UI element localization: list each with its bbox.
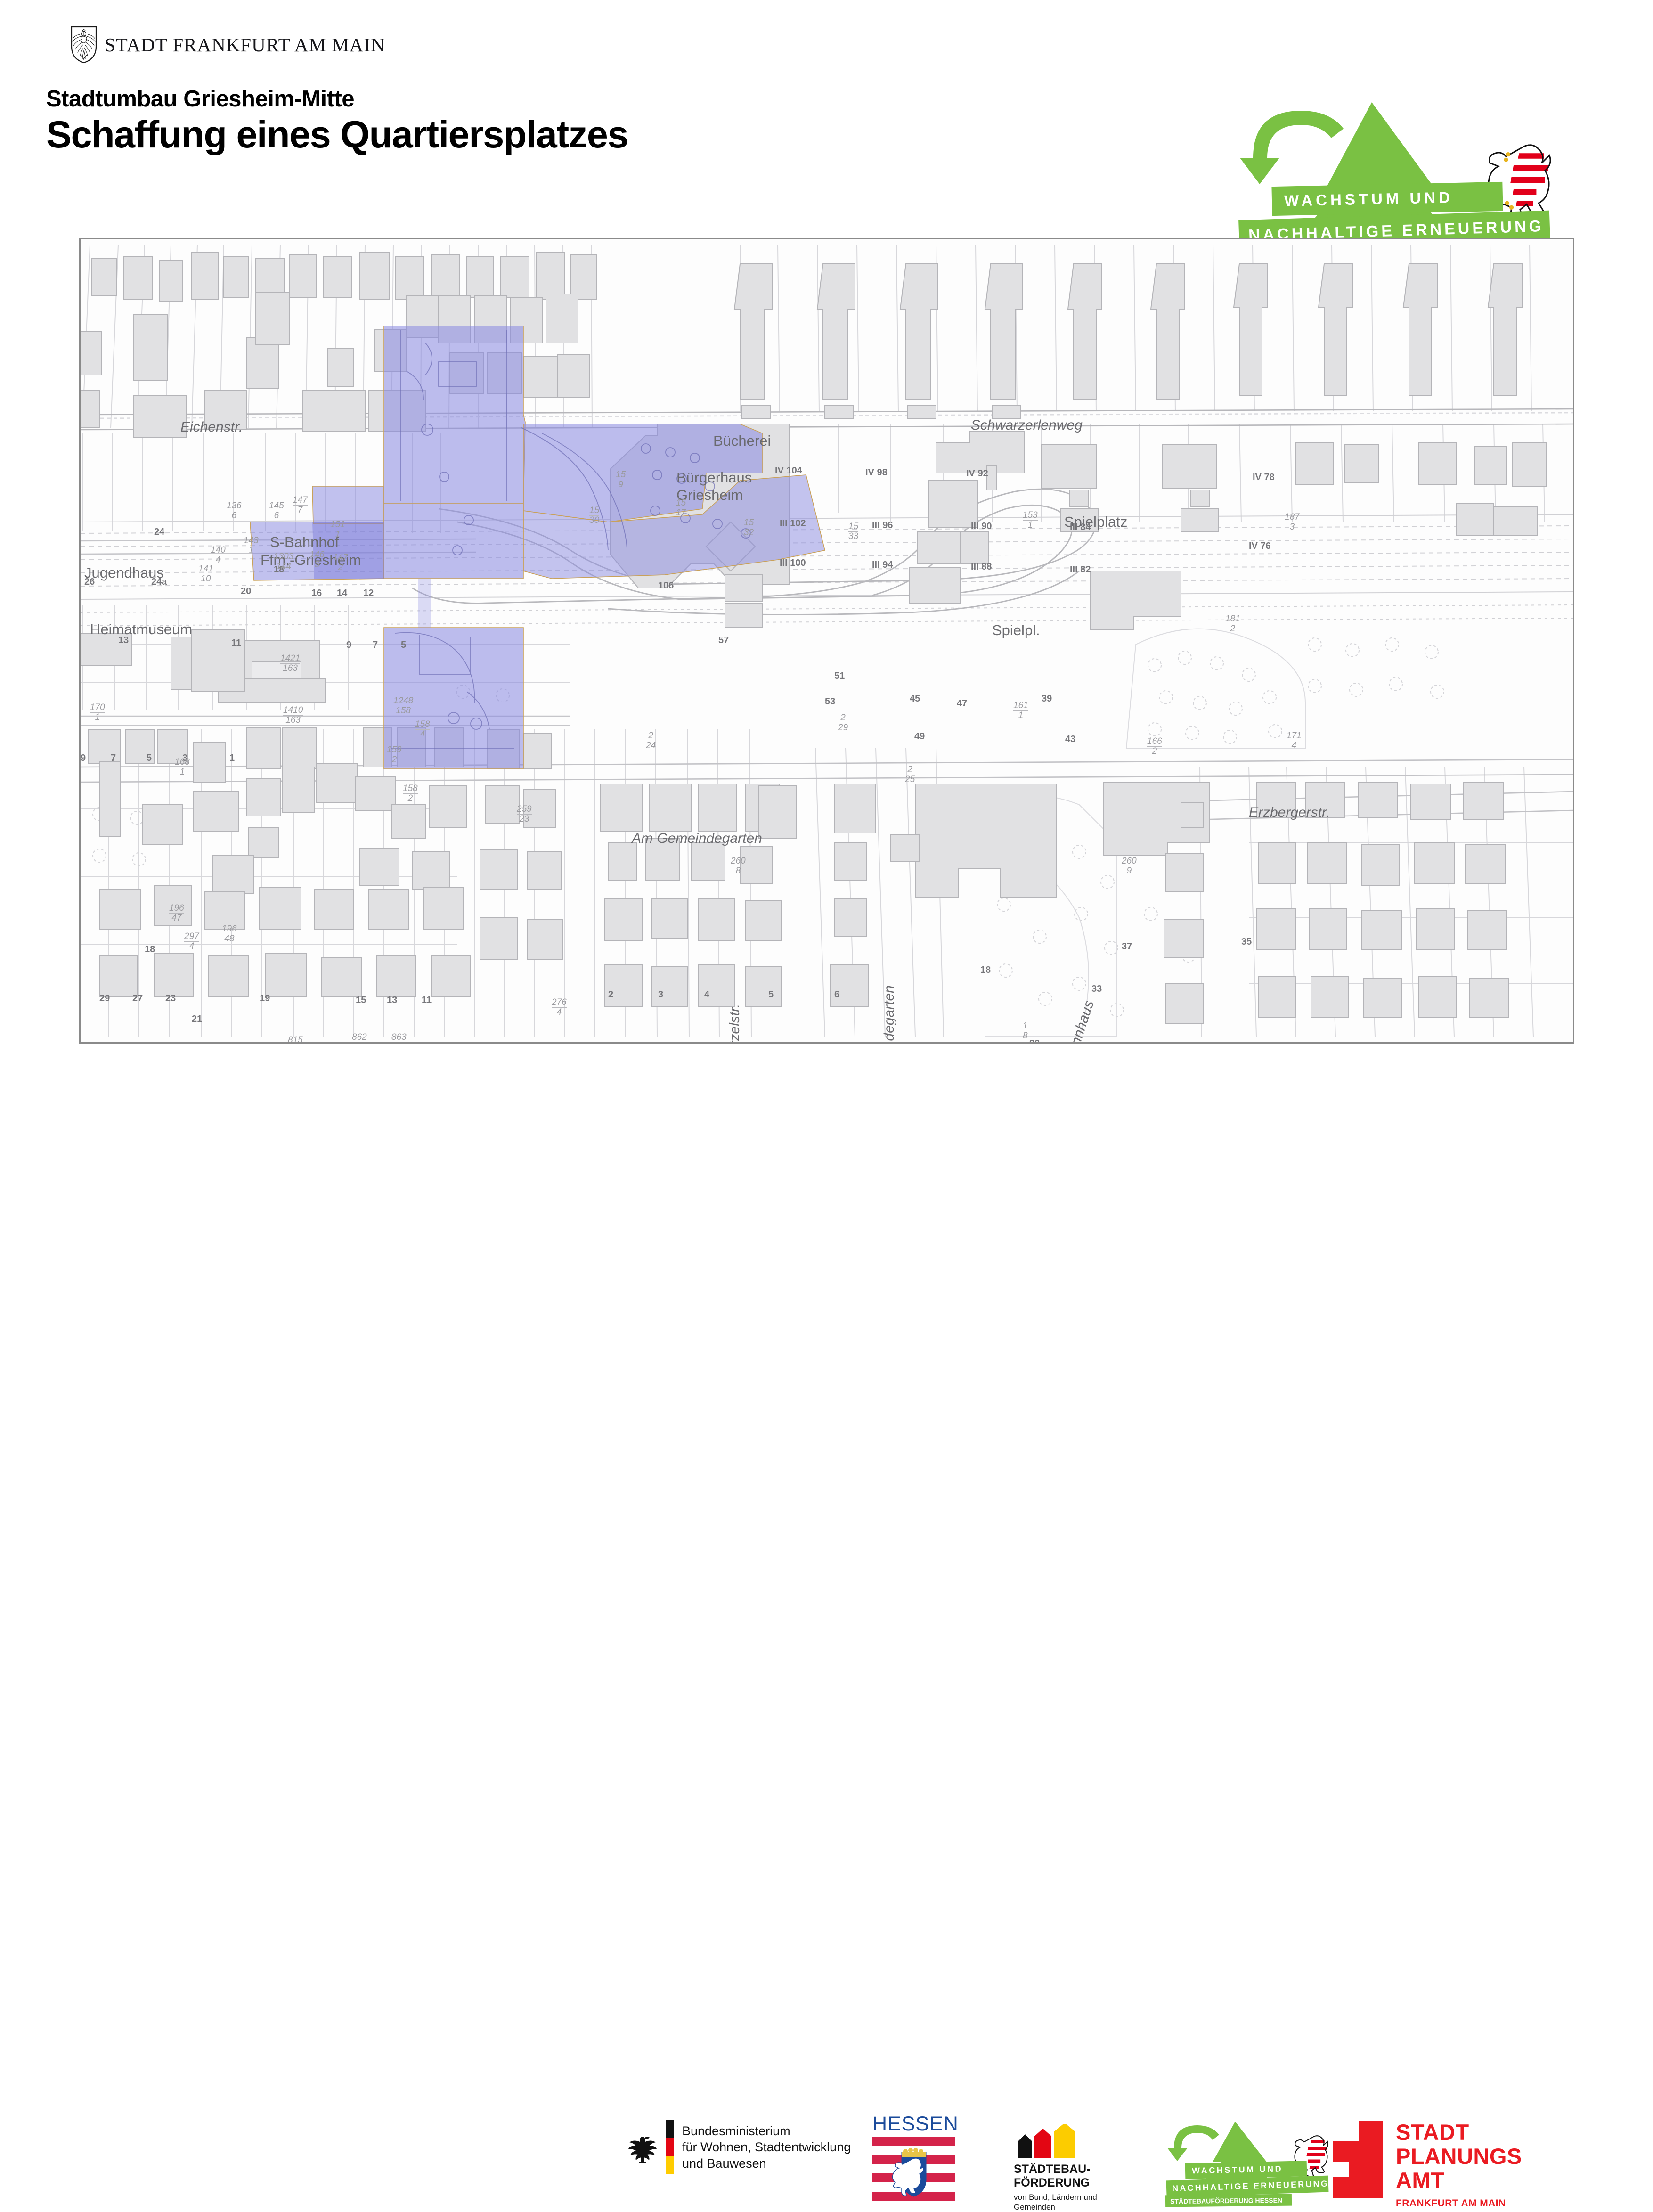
spa-red-mark-icon (1333, 2121, 1383, 2198)
hessen-flag-crest-icon (872, 2137, 955, 2201)
three-houses-icon (1014, 2124, 1122, 2158)
program-logo-footer: WACHSTUM UND NACHHALTIGE ERNEUERUNG STÄD… (1163, 2117, 1356, 2204)
germany-flag-bar (666, 2120, 674, 2174)
bmwsb-line-1: Bundesministerium (682, 2123, 851, 2139)
title-block: Stadtumbau Griesheim-Mitte Schaffung ein… (46, 87, 628, 156)
city-logo-text: STADT FRANKFURT AM MAIN (105, 33, 385, 56)
page-footer: Bundesministerium für Wohnen, Stadtentwi… (0, 1048, 1653, 1168)
cadastral-map[interactable]: Eichenstr. Schwarzerlenweg Am Gemeindega… (79, 238, 1574, 1044)
hessen-logo: HESSEN (872, 2114, 955, 2203)
spa-line-3: AMT (1396, 2169, 1522, 2193)
staedtebau-line-2: FÖRDERUNG (1014, 2176, 1122, 2190)
page-kicker: Stadtumbau Griesheim-Mitte (46, 87, 628, 111)
map-graphics (81, 239, 1573, 1042)
staedtebau-sub-1: von Bund, Ländern und (1014, 2193, 1122, 2203)
hessen-word: HESSEN (872, 2114, 955, 2134)
staedtebau-sub-2: Gemeinden (1014, 2203, 1122, 2212)
program-logo-line1: WACHSTUM UND (1271, 182, 1503, 216)
bmwsb-logo: Bundesministerium für Wohnen, Stadtentwi… (628, 2120, 851, 2174)
city-logo: STADT FRANKFURT AM MAIN (70, 26, 385, 64)
bmwsb-line-2: für Wohnen, Stadtentwicklung (682, 2139, 851, 2155)
bmwsb-text: Bundesministerium für Wohnen, Stadtentwi… (682, 2123, 851, 2172)
page-title: Schaffung eines Quartiersplatzes (46, 114, 628, 156)
program-logo-footer-line1: WACHSTUM UND (1185, 2161, 1307, 2179)
staedtebau-line-1: STÄDTEBAU- (1014, 2163, 1122, 2176)
spa-line-1: STADT (1396, 2121, 1522, 2145)
bmwsb-line-3: und Bauwesen (682, 2155, 851, 2172)
page-header: STADT FRANKFURT AM MAIN Stadtumbau Gries… (0, 0, 1653, 236)
frankfurt-eagle-crest-icon (70, 26, 98, 64)
staedtebaufoerderung-logo: STÄDTEBAU- FÖRDERUNG von Bund, Ländern u… (1014, 2124, 1122, 2212)
spa-subtitle: FRANKFURT AM MAIN (1396, 2198, 1522, 2209)
spa-line-2: PLANUNGS (1396, 2145, 1522, 2169)
stadtplanungsamt-logo: STADT PLANUNGS AMT FRANKFURT AM MAIN (1333, 2121, 1522, 2209)
program-logo-footer-line3: STÄDTEBAUFÖRDERUNG HESSEN (1165, 2194, 1292, 2207)
bundesadler-icon (628, 2131, 657, 2164)
